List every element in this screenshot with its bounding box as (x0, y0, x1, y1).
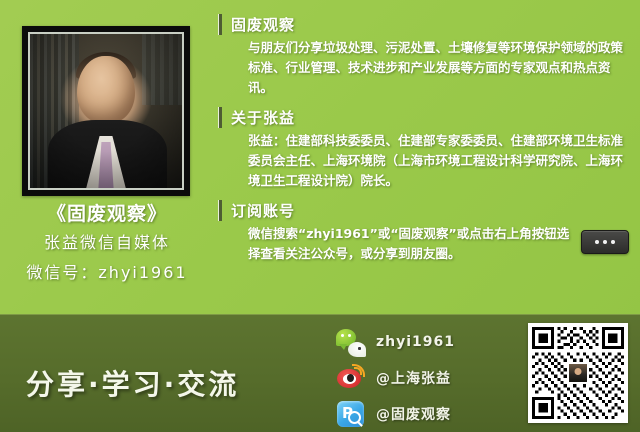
section-marker-icon (218, 14, 222, 35)
dot (603, 240, 607, 244)
social-links: zhyi1961 @上海张益 P @固废观察 (336, 327, 455, 429)
social-label: zhyi1961 (376, 334, 455, 350)
more-dots-icon[interactable] (581, 230, 629, 254)
caption-block: 《固废观察》 张益微信自媒体 微信号：zhyi1961 (0, 200, 214, 288)
dot (595, 240, 599, 244)
search-blue-icon: P (336, 399, 366, 429)
section-title: 关于张益 (231, 107, 295, 128)
caption-wechat-id: 微信号：zhyi1961 (0, 258, 214, 288)
section-header: 订阅账号 (218, 200, 633, 221)
magnifier-glyph (348, 411, 361, 424)
caption-subtitle: 张益微信自媒体 (0, 228, 214, 258)
social-label: @固废观察 (376, 404, 451, 424)
social-row-weibo[interactable]: @上海张益 (336, 363, 455, 393)
social-row-wechat[interactable]: zhyi1961 (336, 327, 455, 357)
social-label: @上海张益 (376, 368, 451, 388)
weibo-pupil (347, 374, 354, 382)
sections-list: 固废观察 与朋友们分享垃圾处理、污泥处置、土壤修复等环境保护领域的政策标准、行业… (218, 14, 633, 273)
portrait-photo (30, 34, 182, 188)
portrait-vignette (30, 34, 182, 188)
section-body: 与朋友们分享垃圾处理、污泥处置、土壤修复等环境保护领域的政策标准、行业管理、技术… (248, 38, 628, 98)
qr-center-avatar (567, 362, 589, 384)
wechat-icon (336, 327, 366, 357)
section-guanfeiguancha: 固废观察 与朋友们分享垃圾处理、污泥处置、土壤修复等环境保护领域的政策标准、行业… (218, 14, 633, 98)
section-title: 订阅账号 (231, 200, 295, 221)
portrait-frame (22, 26, 190, 196)
bubble-front (348, 342, 366, 357)
dot (611, 240, 615, 244)
section-marker-icon (218, 200, 222, 221)
wechat-promo-poster: 《固废观察》 张益微信自媒体 微信号：zhyi1961 固废观察 与朋友们分享垃… (0, 0, 640, 432)
section-header: 关于张益 (218, 107, 633, 128)
section-title: 固废观察 (231, 14, 295, 35)
dot (348, 334, 351, 337)
section-body: 微信搜索“zhyi1961”或“固废观察”或点击右上角按钮选择查看关注公众号，或… (248, 224, 578, 264)
dot (341, 334, 344, 337)
weibo-icon (336, 363, 366, 393)
dot (358, 347, 361, 350)
section-marker-icon (218, 107, 222, 128)
section-header: 固废观察 (218, 14, 633, 35)
portrait-inner-border (28, 32, 184, 190)
section-subscribe: 订阅账号 微信搜索“zhyi1961”或“固废观察”或点击右上角按钮选择查看关注… (218, 200, 633, 264)
social-row-search[interactable]: P @固废观察 (336, 399, 455, 429)
caption-title: 《固废观察》 (0, 200, 214, 228)
footer-slogan: 分享·学习·交流 (26, 363, 239, 403)
wechat-qr-code[interactable] (528, 323, 628, 423)
footer-bar: 分享·学习·交流 zhyi1961 (0, 314, 640, 432)
section-about-zhangyi: 关于张益 张益：住建部科技委委员、住建部专家委委员、住建部环境卫生标准委员会主任… (218, 107, 633, 191)
section-body: 张益：住建部科技委委员、住建部专家委委员、住建部环境卫生标准委员会主任、上海环境… (248, 131, 628, 191)
